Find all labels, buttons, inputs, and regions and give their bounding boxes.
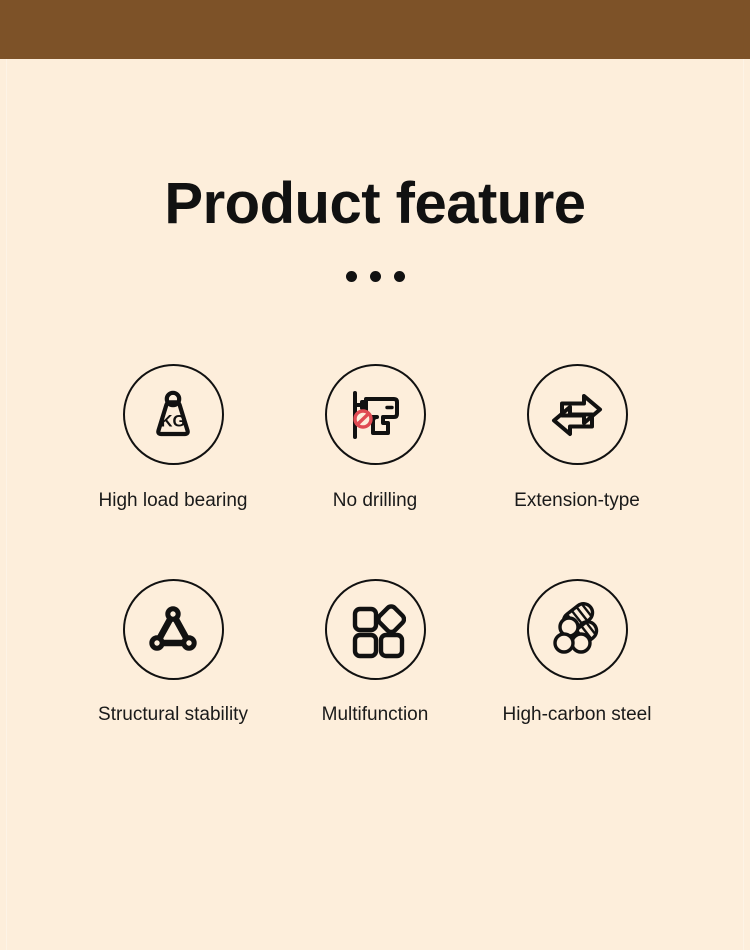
- page-title: Product feature: [0, 175, 750, 233]
- triangle-nodes-icon: [123, 579, 224, 680]
- bidirectional-arrows-icon: [527, 364, 628, 465]
- kg-weight-icon: KG: [123, 364, 224, 465]
- feature-item-no-drilling: No drilling: [274, 364, 476, 513]
- feature-row-1: KG High load bearing: [0, 364, 750, 513]
- divider-dot-1: [346, 271, 357, 282]
- feature-label: High load bearing: [99, 490, 248, 513]
- feature-row-2: Structural stability Multifunction: [0, 579, 750, 727]
- title-dot-divider: [0, 271, 750, 282]
- feature-item-multifunction: Multifunction: [274, 579, 476, 727]
- page-content: Product feature KG High load bearing: [0, 59, 750, 950]
- divider-dot-2: [370, 271, 381, 282]
- product-feature-page: Product feature KG High load bearing: [0, 0, 750, 950]
- svg-text:KG: KG: [161, 412, 186, 430]
- top-brown-band: [0, 0, 750, 59]
- feature-label: Multifunction: [322, 704, 429, 727]
- divider-dot-3: [394, 271, 405, 282]
- feature-item-structural-stability: Structural stability: [72, 579, 274, 727]
- feature-item-high-load-bearing: KG High load bearing: [72, 364, 274, 513]
- feature-label: No drilling: [333, 490, 417, 513]
- feature-item-high-carbon-steel: High-carbon steel: [476, 579, 678, 727]
- feature-label: Structural stability: [98, 704, 248, 727]
- feature-label: Extension-type: [514, 490, 640, 513]
- steel-tubes-icon: [527, 579, 628, 680]
- feature-grid: KG High load bearing: [0, 364, 750, 727]
- feature-item-extension-type: Extension-type: [476, 364, 678, 513]
- feature-label: High-carbon steel: [503, 704, 652, 727]
- four-shapes-icon: [325, 579, 426, 680]
- no-drill-icon: [325, 364, 426, 465]
